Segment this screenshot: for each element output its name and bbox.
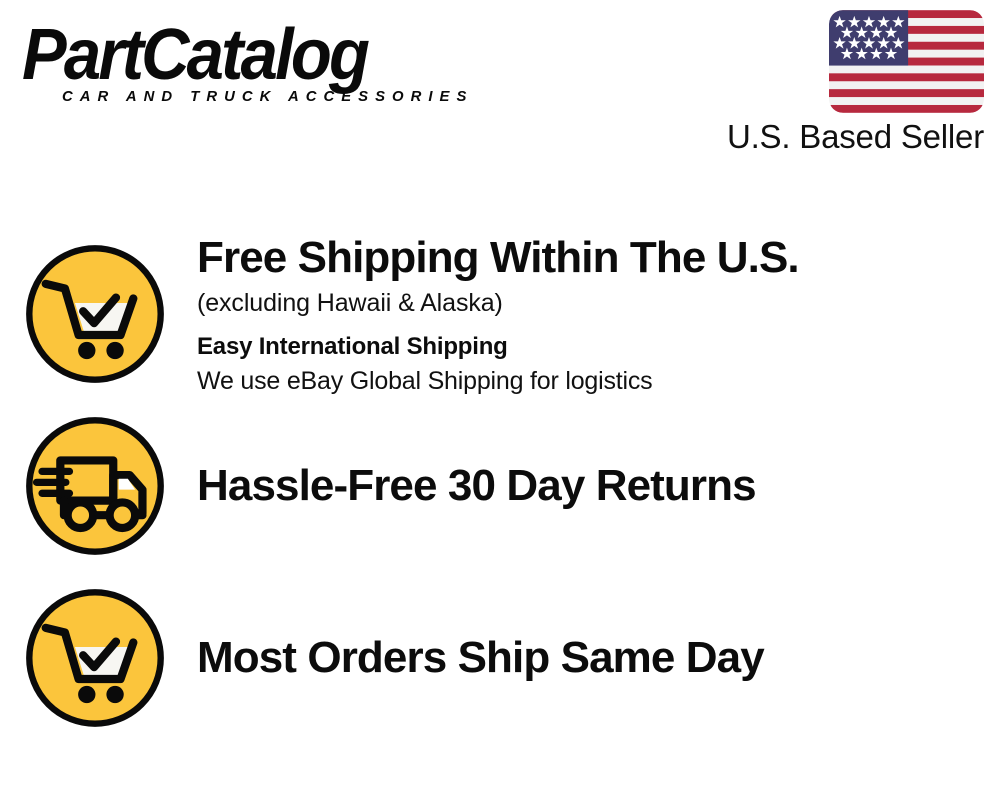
feature-subtext-logistics: We use eBay Global Shipping for logistic… bbox=[197, 364, 1000, 398]
feature-row-free-shipping: Free Shipping Within The U.S. (excluding… bbox=[0, 228, 1000, 400]
feature-text: Hassle-Free 30 Day Returns bbox=[190, 461, 1000, 511]
feature-list: Free Shipping Within The U.S. (excluding… bbox=[0, 228, 1000, 744]
us-based-seller-label: U.S. Based Seller bbox=[718, 118, 984, 156]
feature-icon-wrap bbox=[0, 241, 190, 387]
feature-subheading-international: Easy International Shipping bbox=[197, 330, 1000, 363]
promo-banner: PartCatalog CAR AND TRUCK ACCESSORIES bbox=[0, 0, 1000, 800]
shopping-cart-check-icon bbox=[22, 585, 168, 731]
feature-text: Most Orders Ship Same Day bbox=[190, 633, 1000, 683]
feature-text: Free Shipping Within The U.S. (excluding… bbox=[190, 233, 1000, 398]
feature-row-returns: Hassle-Free 30 Day Returns bbox=[0, 400, 1000, 572]
feature-title: Free Shipping Within The U.S. bbox=[197, 233, 1000, 283]
feature-title: Hassle-Free 30 Day Returns bbox=[197, 461, 1000, 511]
brand-tagline: CAR AND TRUCK ACCESSORIES bbox=[62, 88, 488, 105]
feature-row-same-day-shipping: Most Orders Ship Same Day bbox=[0, 572, 1000, 744]
feature-icon-wrap bbox=[0, 585, 190, 731]
shopping-cart-check-icon bbox=[22, 241, 168, 387]
brand-logo: PartCatalog CAR AND TRUCK ACCESSORIES bbox=[22, 18, 492, 118]
brand-wordmark: PartCatalog bbox=[22, 18, 459, 92]
delivery-truck-icon bbox=[22, 413, 168, 559]
feature-icon-wrap bbox=[0, 413, 190, 559]
us-flag-icon bbox=[829, 10, 984, 113]
us-based-seller-badge: U.S. Based Seller bbox=[718, 10, 988, 156]
feature-title: Most Orders Ship Same Day bbox=[197, 633, 1000, 683]
feature-exclusion-note: (excluding Hawaii & Alaska) bbox=[197, 286, 1000, 320]
